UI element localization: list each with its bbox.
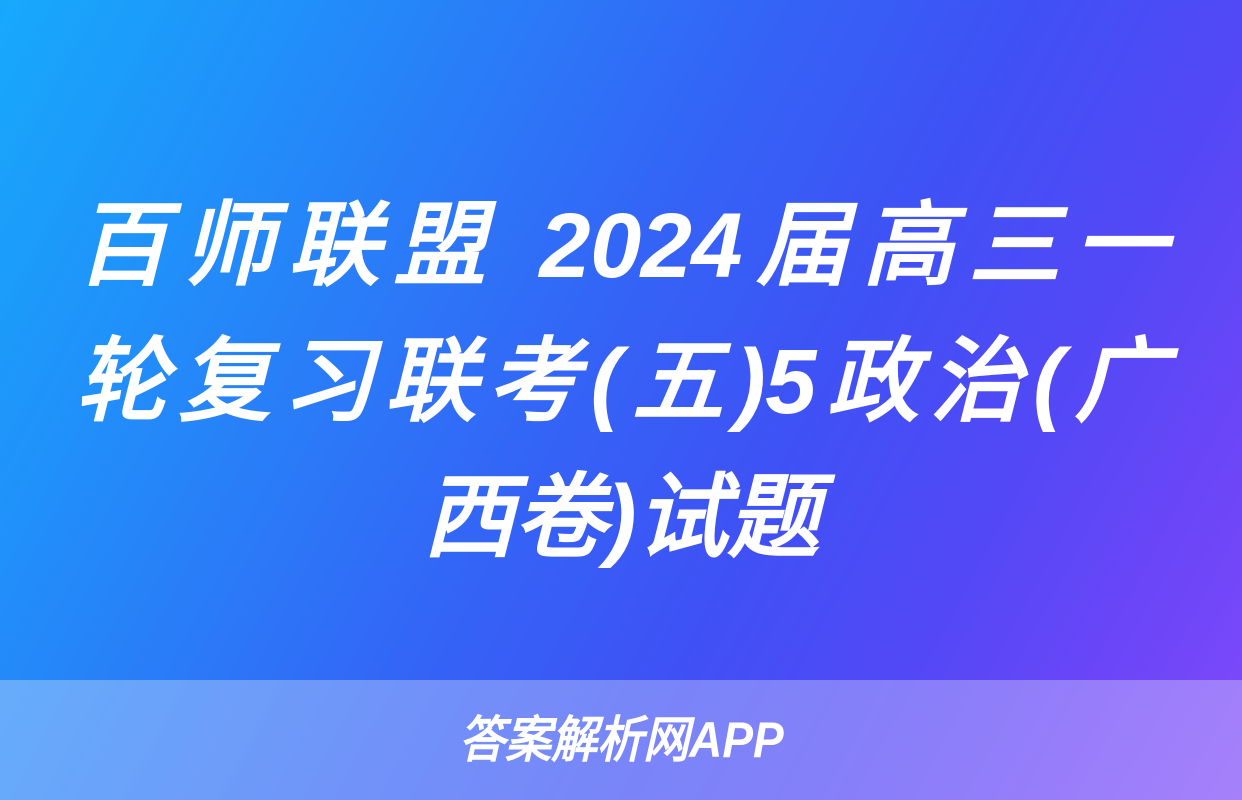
title-line-2: 轮复习联考(五)5政治(广: [76, 314, 1166, 450]
title-line-1: 百师联盟 2024届高三一: [76, 178, 1166, 314]
page-title: 百师联盟 2024届高三一 轮复习联考(五)5政治(广 西卷)试题: [0, 178, 1242, 586]
watermark-band: 答案解析网APP: [0, 680, 1242, 800]
title-line-3: 西卷)试题: [76, 450, 1166, 586]
watermark-label: 答案解析网APP: [459, 715, 784, 765]
cover-image: 百师联盟 2024届高三一 轮复习联考(五)5政治(广 西卷)试题 答案解析网A…: [0, 0, 1242, 800]
